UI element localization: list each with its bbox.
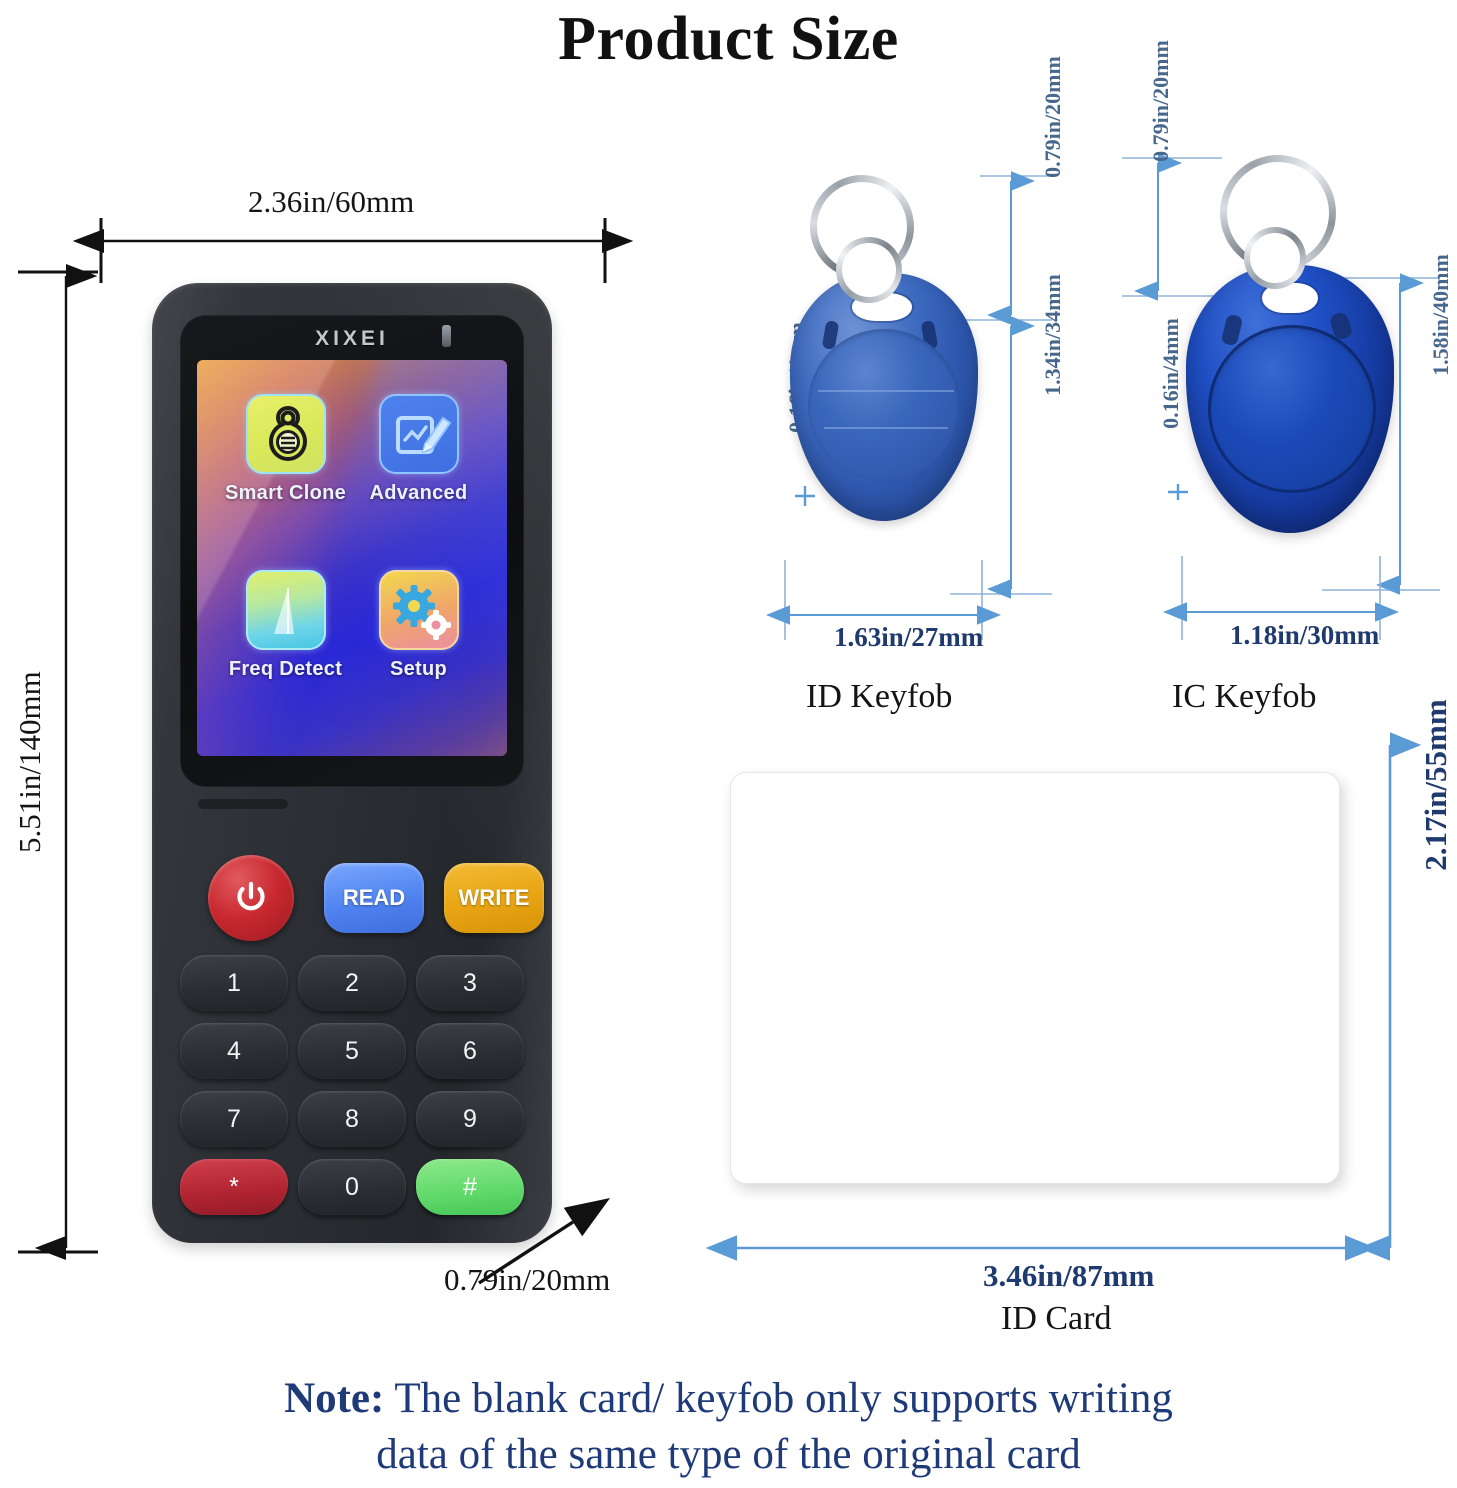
ic-keyfob-disc [1208,325,1376,493]
device-thickness-label: 0.79in/20mm [444,1262,610,1298]
ic-keyfob-figure [1182,155,1412,595]
device-lcd-screen: Smart Clone Advanced [197,360,507,756]
id-keyfob-groove-2 [824,427,948,429]
ic-keyfob-thickness-label: 0.16in/4mm [1158,311,1184,436]
app-setup[interactable]: Setup [352,570,485,746]
ic-keyfob-small-ring [1244,227,1306,289]
device-height-label: 5.51in/140mm [12,673,48,853]
id-card-caption: ID Card [1001,1300,1111,1338]
pencil-edit-icon [379,394,459,474]
key-6[interactable]: 6 [416,1023,524,1079]
key-0[interactable]: 0 [298,1159,406,1215]
note-line-1: The blank card/ keyfob only supports wri… [384,1375,1173,1422]
speaker-grill [198,799,288,809]
key-9[interactable]: 9 [416,1091,524,1147]
read-button[interactable]: READ [324,863,424,933]
app-advanced[interactable]: Advanced [352,394,485,570]
id-keyfob-width-label: 1.63in/27mm [834,622,983,653]
screen-bezel: XIXEI Smart Clone [180,315,524,787]
note-line-2: data of the same type of the original ca… [0,1427,1457,1483]
key-3[interactable]: 3 [416,955,524,1011]
id-keyfob-caption: ID Keyfob [806,678,952,716]
id-keyfob-figure [780,175,1000,595]
device-width-label: 2.36in/60mm [248,184,414,220]
app-freq-detect[interactable]: Freq Detect [219,570,352,746]
id-keyfob-body-label: 1.34in/34mm [1040,270,1066,400]
product-size-infographic: Product Size XIXEI [0,0,1457,1488]
id-card-width-label: 3.46in/87mm [983,1258,1154,1294]
app-label: Setup [390,658,447,681]
app-label: Smart Clone [225,482,346,505]
key-7[interactable]: 7 [180,1091,288,1147]
id-keyfob-groove-1 [818,390,954,392]
id-keyfob-disc [808,329,960,481]
key-1[interactable]: 1 [180,955,288,1011]
key-star[interactable]: * [180,1159,288,1215]
app-smart-clone[interactable]: Smart Clone [219,394,352,570]
note-prefix: Note: [284,1375,384,1422]
ic-keyfob-ring-label: 0.79in/20mm [1148,36,1174,166]
key-4[interactable]: 4 [180,1023,288,1079]
ic-keyfob-body-label: 1.58in/40mm [1428,250,1454,380]
id-keyfob-small-ring [836,237,902,303]
page-title: Product Size [0,4,1457,75]
ic-keyfob-caption: IC Keyfob [1172,678,1316,716]
id-card-graphic [730,772,1340,1184]
gears-icon [379,570,459,650]
signal-wave-icon [246,570,326,650]
id-keyfob-ring-label: 0.79in/20mm [1040,52,1066,182]
id-card-height-label: 2.17in/55mm [1418,690,1454,880]
key-hash[interactable]: # [416,1159,524,1215]
power-button[interactable] [208,855,294,941]
keyfob-icon [246,394,326,474]
device-height-label-wrap: 5.51in/140mm [0,745,120,781]
app-label: Freq Detect [229,658,342,681]
power-icon [231,876,271,921]
ic-keyfob-width-label: 1.18in/30mm [1230,620,1379,651]
key-2[interactable]: 2 [298,955,406,1011]
brand-indicator [442,325,451,347]
write-button[interactable]: WRITE [444,863,544,933]
rfid-duplicator-device: XIXEI Smart Clone [152,283,552,1243]
note-block: Note: The blank card/ keyfob only suppor… [0,1371,1457,1483]
app-label: Advanced [370,482,468,505]
key-5[interactable]: 5 [298,1023,406,1079]
keypad: 1 2 3 4 5 6 7 8 9 * 0 # [180,955,524,1215]
key-8[interactable]: 8 [298,1091,406,1147]
brand-logo: XIXEI [180,327,524,351]
